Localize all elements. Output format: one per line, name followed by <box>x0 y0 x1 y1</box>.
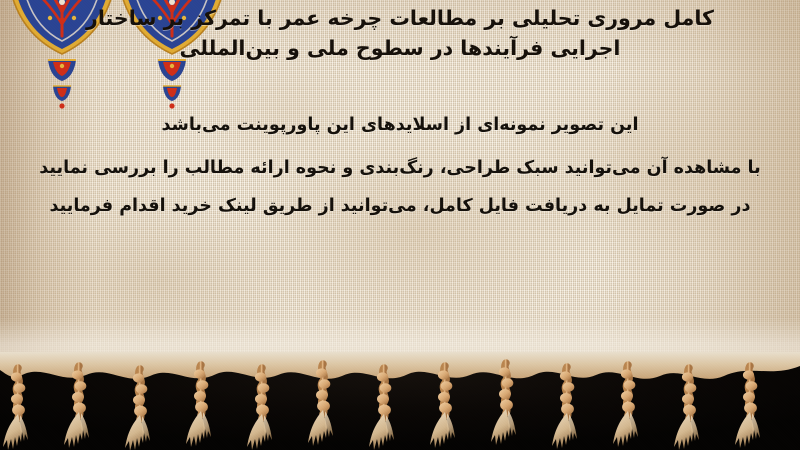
body-line-3: در صورت تمایل به دریافت فایل کامل، می‌تو… <box>14 193 786 220</box>
body-line-1: این تصویر نمونه‌ای از اسلایدهای این پاور… <box>14 112 786 139</box>
heading-line-2: اجرایی فرآیندها در سطوح ملی و بین‌المللی <box>12 34 788 64</box>
heading-line-1: کامل مروری تحلیلی بر مطالعات چرخه عمر با… <box>12 4 788 34</box>
slide-body: این تصویر نمونه‌ای از اسلایدهای این پاور… <box>0 112 800 220</box>
black-backdrop <box>0 366 800 450</box>
text-layer: کامل مروری تحلیلی بر مطالعات چرخه عمر با… <box>0 0 800 375</box>
slide-heading: کامل مروری تحلیلی بر مطالعات چرخه عمر با… <box>0 4 800 64</box>
body-line-2: با مشاهده آن می‌توانید سبک طراحی، رنگ‌بن… <box>14 155 786 182</box>
slide-canvas: کامل مروری تحلیلی بر مطالعات چرخه عمر با… <box>0 0 800 450</box>
